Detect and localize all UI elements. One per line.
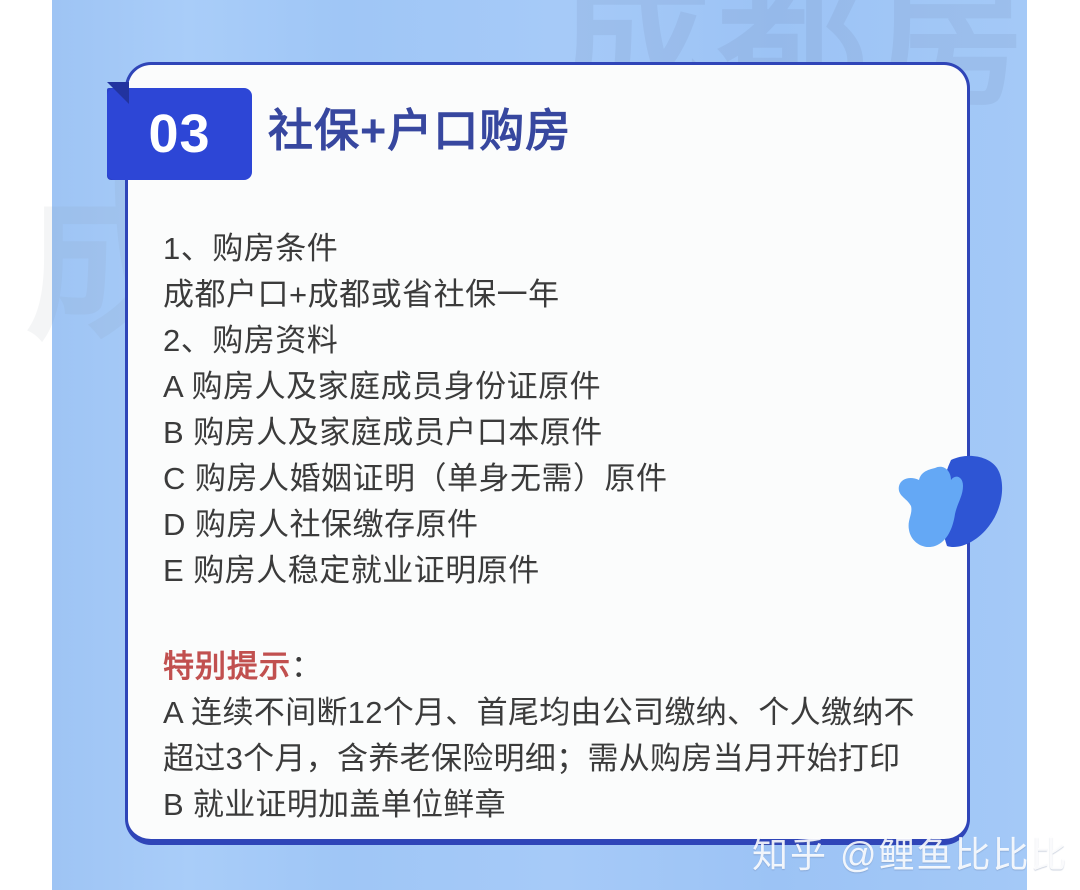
body-line: 成都户口+成都或省社保一年 <box>163 272 953 318</box>
body-content: 1、购房条件 成都户口+成都或省社保一年 2、购房资料 A 购房人及家庭成员身份… <box>163 226 953 594</box>
ribbon-fold-icon <box>107 82 129 104</box>
special-notice-block: 特别提示： A 连续不间断12个月、首尾均由公司缴纳、个人缴纳不 超过3个月，含… <box>163 644 963 828</box>
body-line: 1、购房条件 <box>163 226 953 272</box>
page-title: 社保+户口购房 <box>268 106 571 156</box>
section-number-badge: 03 <box>104 82 254 182</box>
special-notice-line: B 就业证明加盖单位鲜章 <box>163 782 963 828</box>
special-notice-heading: 特别提示： <box>163 644 963 690</box>
body-line: B 购房人及家庭成员户口本原件 <box>163 410 953 456</box>
body-line: A 购房人及家庭成员身份证原件 <box>163 364 953 410</box>
body-line: 2、购房资料 <box>163 318 953 364</box>
special-notice-colon: ： <box>291 649 323 684</box>
body-line: C 购房人婚姻证明（单身无需）原件 <box>163 456 953 502</box>
special-notice-line: 超过3个月，含养老保险明细；需从购房当月开始打印 <box>163 736 963 782</box>
body-line: E 购房人稳定就业证明原件 <box>163 548 953 594</box>
body-line: D 购房人社保缴存原件 <box>163 502 953 548</box>
screenshot-canvas: 成都房 成都房小团 03 社保+户口购房 1、购房条件 成都户口+成都或省社保一… <box>0 0 1080 890</box>
special-notice-heading-text: 特别提示 <box>163 649 291 684</box>
zhihu-attribution-watermark: 知乎 @鲤鱼比比比 <box>752 826 1069 878</box>
special-notice-line: A 连续不间断12个月、首尾均由公司缴纳、个人缴纳不 <box>163 690 963 736</box>
section-number-label: 03 <box>148 107 210 161</box>
